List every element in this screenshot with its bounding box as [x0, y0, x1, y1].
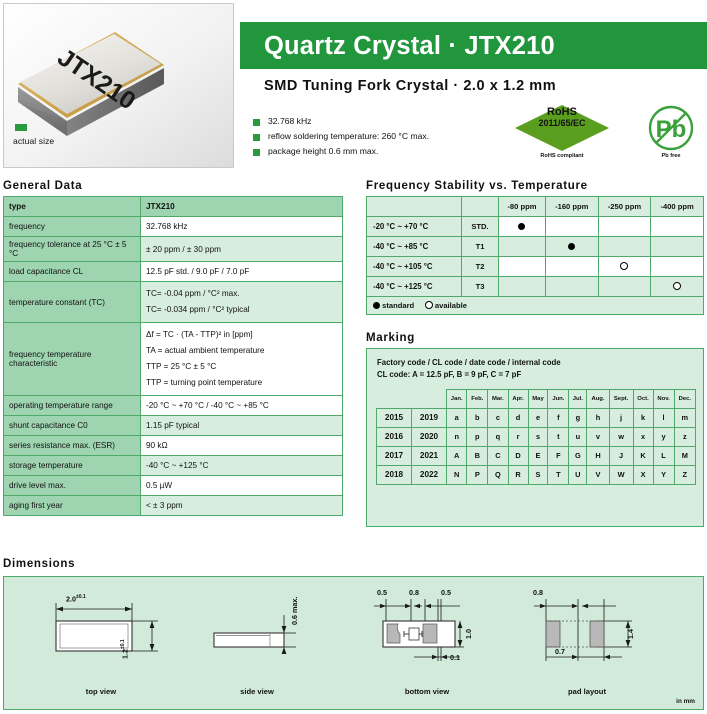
mk-year: 2017 — [377, 446, 412, 465]
gd-value: 32.768 kHz — [141, 217, 343, 237]
mk-code: C — [488, 446, 508, 465]
rohs-line1: RoHS — [514, 107, 610, 118]
mk-month-header: Feb. — [467, 390, 488, 409]
mk-month-header: Jul. — [569, 390, 587, 409]
fs-header-blank — [462, 197, 499, 217]
fs-range: -40 °C ~ +85 °C — [367, 237, 462, 257]
table-row: frequency tolerance at 25 °C ± 5 °C ± 20… — [4, 237, 343, 262]
mk-year: 2021 — [412, 446, 447, 465]
mk-code: q — [488, 427, 508, 446]
pad-layout-drawing — [532, 585, 692, 680]
mk-code: f — [548, 408, 569, 427]
table-legend-row: standard available — [367, 297, 704, 315]
mk-month-header: Mar. — [488, 390, 508, 409]
marking-panel: Factory code / CL code / date code / int… — [366, 348, 704, 527]
gd-key: aging first year — [4, 496, 141, 516]
mk-code: L — [653, 446, 674, 465]
fs-mark-available — [651, 277, 704, 297]
mk-code: a — [447, 408, 467, 427]
gd-value: < ± 3 ppm — [141, 496, 343, 516]
gd-value: 0.5 µW — [141, 476, 343, 496]
mk-month-header: Jan. — [447, 390, 467, 409]
mk-code: m — [674, 408, 695, 427]
dimensions-unit-note: in mm — [676, 698, 695, 705]
feature-bullet: reflow soldering temperature: 260 °C max… — [248, 129, 498, 144]
table-header-row: Jan. Feb. Mar. Apr. May Jun. Jul. Aug. S… — [377, 390, 696, 409]
mk-code: v — [587, 427, 609, 446]
mk-year: 2018 — [377, 465, 412, 484]
feature-bullet: package height 0.6 mm max. — [248, 144, 498, 159]
gd-key: frequency — [4, 217, 141, 237]
fs-mark-available — [598, 257, 651, 277]
top-view-height-tol: ±0.1 — [120, 639, 126, 649]
fs-mark-empty — [598, 277, 651, 297]
fs-mark-empty — [651, 257, 704, 277]
filled-dot-icon — [568, 243, 575, 250]
mk-month-header: Oct. — [633, 390, 653, 409]
bottom-view-dim5: 0.1 — [450, 653, 460, 662]
gd-key: storage temperature — [4, 456, 141, 476]
gd-value-line: TA = actual ambient temperature — [146, 343, 337, 359]
top-view-drawing — [42, 585, 182, 680]
dimensions-panel: 2.0±0.1 1.2±0.1 top view 0.6 max. side v… — [3, 576, 704, 710]
mk-code: w — [609, 427, 633, 446]
side-view-caption: side view — [202, 687, 312, 696]
mk-month-header: Sept. — [609, 390, 633, 409]
table-row: -40 °C ~ +85 °C T1 — [367, 237, 704, 257]
general-data-table: type JTX210 frequency 32.768 kHz frequen… — [3, 196, 343, 516]
mk-code: r — [508, 427, 528, 446]
gd-value-line: TTP = 25 °C ± 5 °C — [146, 359, 337, 375]
bottom-view-dim2: 0.8 — [409, 588, 419, 597]
fs-mark-empty — [545, 217, 598, 237]
frequency-stability-table: -80 ppm -160 ppm -250 ppm -400 ppm -20 °… — [366, 196, 704, 315]
mk-month-header: Aug. — [587, 390, 609, 409]
pad-layout-dim1: 0.8 — [533, 588, 543, 597]
table-row: load capacitance CL 12.5 pF std. / 9.0 p… — [4, 262, 343, 282]
fs-mark-empty — [545, 257, 598, 277]
section-heading-dimensions: Dimensions — [3, 558, 75, 570]
gd-value: 1.15 pF typical — [141, 416, 343, 436]
side-view-height-label: 0.6 max. — [290, 597, 299, 625]
mk-month-header: Jun. — [548, 390, 569, 409]
filled-dot-icon — [373, 302, 380, 309]
mk-code: G — [569, 446, 587, 465]
gd-key: frequency temperature characteristic — [4, 323, 141, 396]
top-view-width-value: 2.0 — [66, 594, 76, 603]
mk-code: s — [528, 427, 548, 446]
mk-code: n — [447, 427, 467, 446]
fs-col-header: -160 ppm — [545, 197, 598, 217]
bottom-view-dim3: 0.5 — [441, 588, 451, 597]
table-row: type JTX210 — [4, 197, 343, 217]
rohs-caption: RoHS compliant — [514, 153, 610, 159]
mk-code: d — [508, 408, 528, 427]
section-heading-general-data: General Data — [3, 180, 82, 192]
fs-code: T1 — [462, 237, 499, 257]
gd-value: TC= -0.04 ppm / °C² max. TC= -0.034 ppm … — [141, 282, 343, 323]
mk-code: p — [467, 427, 488, 446]
marking-note-line2: CL code: A = 12.5 pF, B = 9 pF, C = 7 pF — [377, 369, 561, 381]
fs-legend: standard available — [367, 297, 704, 315]
datasheet-page: JTX210 actual size Quartz Crystal · JTX2… — [0, 0, 707, 714]
marking-date-code-table: Jan. Feb. Mar. Apr. May Jun. Jul. Aug. S… — [376, 389, 696, 485]
table-row: 2017 2021 A B C D E F G H J K L M — [377, 446, 696, 465]
rohs-line2: 2011/65/EC — [514, 118, 610, 129]
table-row: 2015 2019 a b c d e f g h j k l m — [377, 408, 696, 427]
mk-code: J — [609, 446, 633, 465]
mk-code: M — [674, 446, 695, 465]
table-row: -20 °C ~ +70 °C STD. — [367, 217, 704, 237]
mk-code: y — [653, 427, 674, 446]
mk-year: 2015 — [377, 408, 412, 427]
table-row: series resistance max. (ESR) 90 kΩ — [4, 436, 343, 456]
gd-key: frequency tolerance at 25 °C ± 5 °C — [4, 237, 141, 262]
table-row: drive level max. 0.5 µW — [4, 476, 343, 496]
table-row: frequency temperature characteristic Δf … — [4, 323, 343, 396]
mk-code: H — [587, 446, 609, 465]
gd-value-line: TTP = turning point temperature — [146, 375, 337, 391]
actual-size-swatch — [15, 124, 27, 131]
table-row: 2016 2020 n p q r s t u v w x y z — [377, 427, 696, 446]
gd-value-line: TC= -0.04 ppm / °C² max. — [146, 286, 337, 302]
gd-key: operating temperature range — [4, 396, 141, 416]
mk-month-header: Nov. — [653, 390, 674, 409]
feature-bullet: 32.768 kHz — [248, 114, 498, 129]
pad-layout-caption: pad layout — [532, 687, 642, 696]
mk-year: 2016 — [377, 427, 412, 446]
top-view-caption: top view — [46, 687, 156, 696]
gd-value-line: Δf = TC · (TA - TTP)² in [ppm] — [146, 327, 337, 343]
mk-code: g — [569, 408, 587, 427]
mk-code: W — [609, 465, 633, 484]
gd-value: -20 °C ~ +70 °C / -40 °C ~ +85 °C — [141, 396, 343, 416]
mk-code: t — [548, 427, 569, 446]
gd-value: 12.5 pF std. / 9.0 pF / 7.0 pF — [141, 262, 343, 282]
bottom-view-caption: bottom view — [372, 687, 482, 696]
fs-range: -40 °C ~ +125 °C — [367, 277, 462, 297]
table-row: frequency 32.768 kHz — [4, 217, 343, 237]
mk-year: 2019 — [412, 408, 447, 427]
rohs-logo: RoHS 2011/65/EC RoHS compliant — [514, 104, 610, 166]
open-dot-icon — [673, 282, 681, 290]
mk-code: z — [674, 427, 695, 446]
mk-blank — [412, 390, 447, 409]
page-title: Quartz Crystal · JTX210 — [240, 22, 707, 62]
table-row: -40 °C ~ +105 °C T2 — [367, 257, 704, 277]
table-row: -40 °C ~ +125 °C T3 — [367, 277, 704, 297]
mk-blank — [377, 390, 412, 409]
fs-mark-empty — [499, 237, 546, 257]
top-view-width-label: 2.0±0.1 — [66, 594, 86, 603]
mk-code: j — [609, 408, 633, 427]
gd-value: ± 20 ppm / ± 30 ppm — [141, 237, 343, 262]
title-bar: Quartz Crystal · JTX210 — [240, 22, 707, 69]
mk-code: V — [587, 465, 609, 484]
fs-col-header: -250 ppm — [598, 197, 651, 217]
gd-value-line: TC= -0.034 ppm / °C² typical — [146, 302, 337, 318]
marking-note-line1: Factory code / CL code / date code / int… — [377, 357, 561, 369]
top-view-height-label: 1.2±0.1 — [120, 639, 129, 659]
mk-code: K — [633, 446, 653, 465]
mk-code: S — [528, 465, 548, 484]
legend-standard-label: standard — [382, 301, 414, 310]
gd-value: Δf = TC · (TA - TTP)² in [ppm] TA = actu… — [141, 323, 343, 396]
mk-code: Z — [674, 465, 695, 484]
table-row: operating temperature range -20 °C ~ +70… — [4, 396, 343, 416]
top-view-width-tol: ±0.1 — [76, 594, 86, 600]
mk-month-header: Dec. — [674, 390, 695, 409]
fs-range: -20 °C ~ +70 °C — [367, 217, 462, 237]
table-row: temperature constant (TC) TC= -0.04 ppm … — [4, 282, 343, 323]
table-header-row: -80 ppm -160 ppm -250 ppm -400 ppm — [367, 197, 704, 217]
fs-mark-empty — [499, 277, 546, 297]
pb-free-caption: Pb free — [645, 153, 697, 159]
legend-available-label: available — [435, 301, 467, 310]
pb-free-logo: Pb Pb free — [645, 104, 697, 166]
fs-code: T2 — [462, 257, 499, 277]
mk-code: h — [587, 408, 609, 427]
fs-mark-empty — [598, 237, 651, 257]
pad-layout-dim3: 0.7 — [555, 647, 565, 656]
fs-code: STD. — [462, 217, 499, 237]
mk-code: N — [447, 465, 467, 484]
mk-code: b — [467, 408, 488, 427]
open-dot-icon — [425, 301, 433, 309]
mk-code: Y — [653, 465, 674, 484]
mk-year: 2020 — [412, 427, 447, 446]
mk-code: l — [653, 408, 674, 427]
side-view-drawing — [204, 585, 334, 680]
gd-key: shunt capacitance C0 — [4, 416, 141, 436]
mk-code: e — [528, 408, 548, 427]
mk-code: Q — [488, 465, 508, 484]
fs-mark-standard — [499, 217, 546, 237]
fs-mark-empty — [545, 277, 598, 297]
fs-mark-empty — [651, 237, 704, 257]
top-view-height-value: 1.2 — [120, 649, 129, 659]
fs-header-blank — [367, 197, 462, 217]
mk-code: B — [467, 446, 488, 465]
mk-month-header: Apr. — [508, 390, 528, 409]
gd-value: -40 °C ~ +125 °C — [141, 456, 343, 476]
open-dot-icon — [620, 262, 628, 270]
table-row: shunt capacitance C0 1.15 pF typical — [4, 416, 343, 436]
bottom-view-dim4: 1.0 — [464, 629, 473, 639]
gd-value: 90 kΩ — [141, 436, 343, 456]
header: JTX210 actual size Quartz Crystal · JTX2… — [0, 0, 707, 174]
fs-col-header: -400 ppm — [651, 197, 704, 217]
fs-mark-empty — [499, 257, 546, 277]
gd-key: temperature constant (TC) — [4, 282, 141, 323]
mk-code: D — [508, 446, 528, 465]
bottom-view-dim1: 0.5 — [377, 588, 387, 597]
section-heading-marking: Marking — [366, 332, 415, 344]
fs-mark-empty — [651, 217, 704, 237]
table-row: storage temperature -40 °C ~ +125 °C — [4, 456, 343, 476]
fs-col-header: -80 ppm — [499, 197, 546, 217]
mk-code: P — [467, 465, 488, 484]
mk-code: E — [528, 446, 548, 465]
rohs-text: RoHS 2011/65/EC — [514, 107, 610, 129]
mk-code: u — [569, 427, 587, 446]
section-heading-frequency-stability: Frequency Stability vs. Temperature — [366, 180, 588, 192]
fs-mark-standard — [545, 237, 598, 257]
table-row: 2018 2022 N P Q R S T U V W X Y Z — [377, 465, 696, 484]
table-row: aging first year < ± 3 ppm — [4, 496, 343, 516]
mk-code: X — [633, 465, 653, 484]
mk-code: x — [633, 427, 653, 446]
mk-code: T — [548, 465, 569, 484]
gd-key: drive level max. — [4, 476, 141, 496]
mk-code: R — [508, 465, 528, 484]
mk-code: k — [633, 408, 653, 427]
feature-bullets: 32.768 kHz reflow soldering temperature:… — [248, 114, 498, 159]
marking-note: Factory code / CL code / date code / int… — [377, 357, 561, 381]
bottom-view-drawing — [374, 585, 524, 680]
gd-value: JTX210 — [141, 197, 343, 217]
filled-dot-icon — [518, 223, 525, 230]
gd-key: series resistance max. (ESR) — [4, 436, 141, 456]
mk-code: F — [548, 446, 569, 465]
fs-range: -40 °C ~ +105 °C — [367, 257, 462, 277]
fs-code: T3 — [462, 277, 499, 297]
product-photo: JTX210 actual size — [3, 3, 234, 168]
page-subtitle: SMD Tuning Fork Crystal · 2.0 x 1.2 mm — [264, 78, 556, 94]
fs-mark-empty — [598, 217, 651, 237]
pad-layout-dim2: 1.4 — [626, 629, 635, 639]
pb-free-icon: Pb — [645, 104, 697, 152]
mk-code: A — [447, 446, 467, 465]
mk-code: U — [569, 465, 587, 484]
gd-key: load capacitance CL — [4, 262, 141, 282]
mk-year: 2022 — [412, 465, 447, 484]
mk-code: c — [488, 408, 508, 427]
gd-key: type — [4, 197, 141, 217]
actual-size-label: actual size — [13, 136, 54, 146]
mk-month-header: May — [528, 390, 548, 409]
